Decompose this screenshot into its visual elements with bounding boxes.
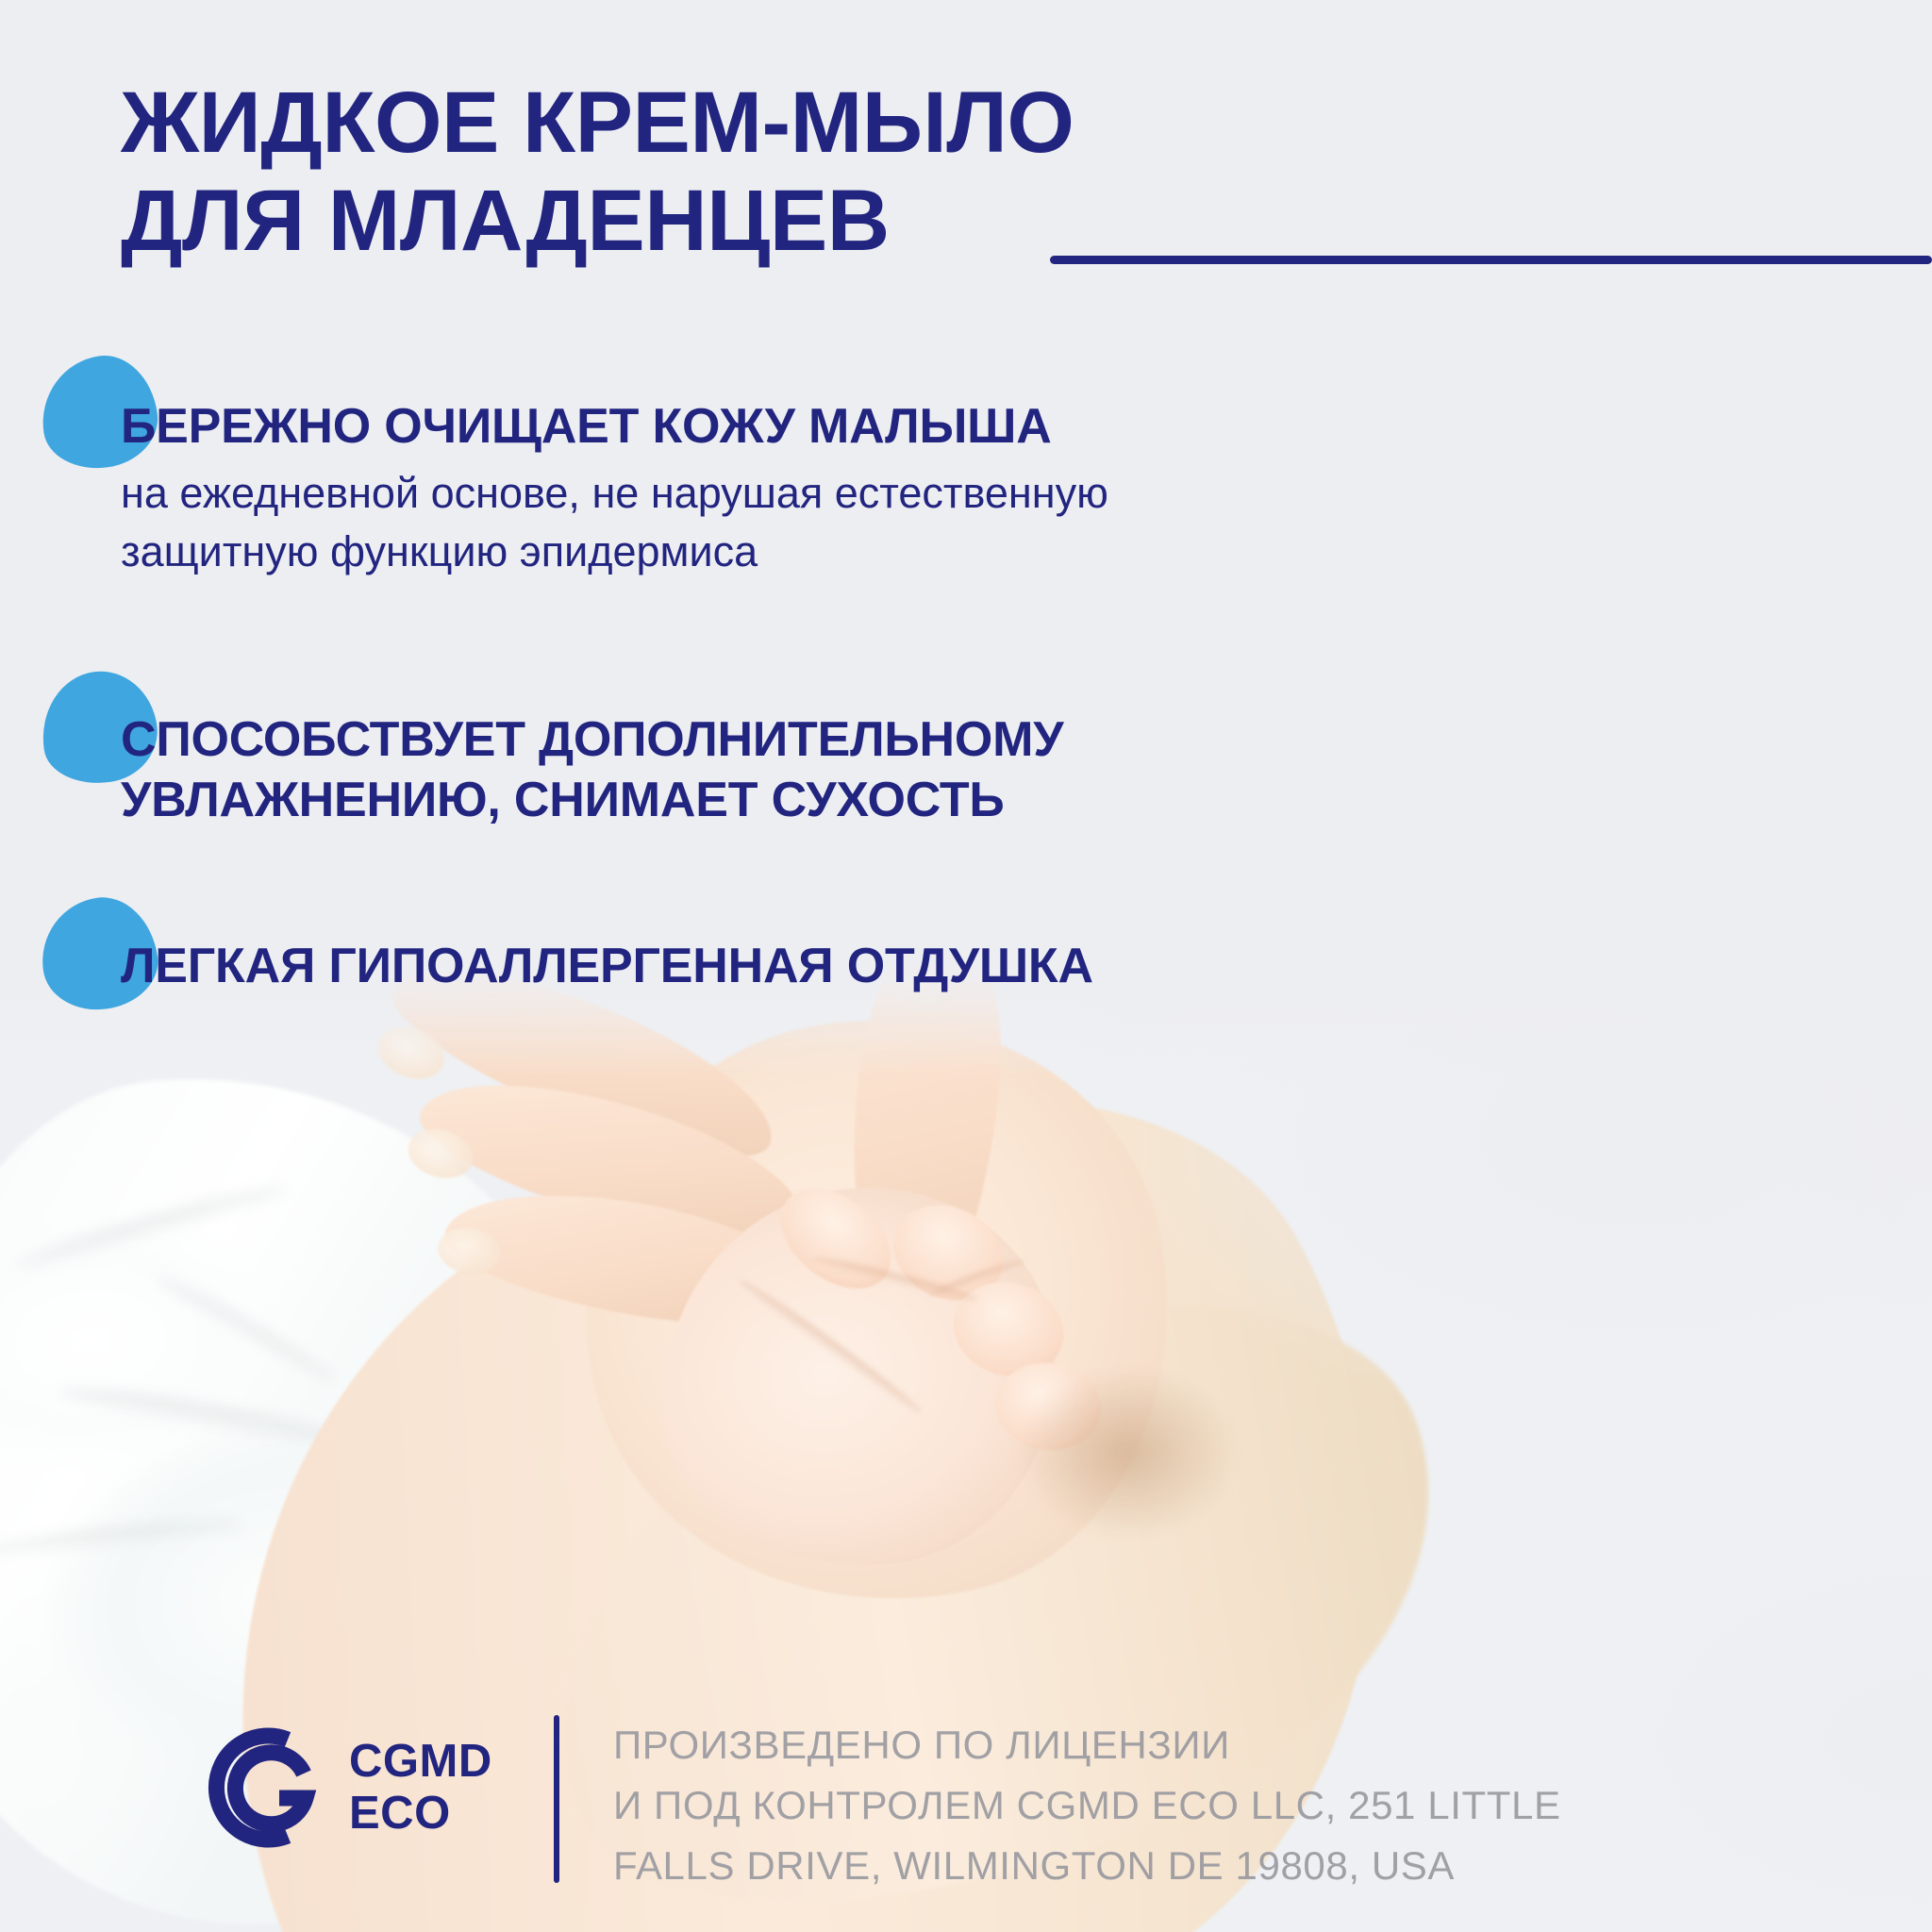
legal-text: ПРОИЗВЕДЕНО ПО ЛИЦЕНЗИИ И ПОД КОНТРОЛЕМ … [613, 1715, 1868, 1896]
benefit-item-2: СПОСОБСТВУЕТ ДОПОЛНИТЕЛЬНОМУ УВЛАЖНЕНИЮ,… [121, 709, 1592, 830]
legal-line-2: И ПОД КОНТРОЛЕМ CGMD ECO LLC, 251 LITTLE [613, 1775, 1868, 1836]
benefit-2-heading-line-1: СПОСОБСТВУЕТ ДОПОЛНИТЕЛЬНОМУ [121, 709, 1592, 770]
brand-logo: CGMD ECO [198, 1724, 492, 1851]
brand-logo-line-1: CGMD [349, 1736, 492, 1788]
benefit-1-sub-line-1: на ежедневной основе, не нарушая естеств… [121, 464, 1592, 523]
benefit-1-heading: БЕРЕЖНО ОЧИЩАЕТ КОЖУ МАЛЫША [121, 396, 1592, 457]
title-line-1: ЖИДКОЕ КРЕМ-МЫЛО [121, 74, 1347, 172]
brand-logo-line-2: ECO [349, 1788, 492, 1840]
cgmd-eco-monogram-icon [198, 1724, 325, 1851]
footer: CGMD ECO ПРОИЗВЕДЕНО ПО ЛИЦЕНЗИИ И ПОД К… [0, 1698, 1932, 1932]
benefit-2-heading-line-2: УВЛАЖНЕНИЮ, СНИМАЕТ СУХОСТЬ [121, 770, 1592, 830]
benefit-3-heading: ЛЕГКАЯ ГИПОАЛЛЕРГЕННАЯ ОТДУШКА [121, 936, 1592, 996]
benefit-item-3: ЛЕГКАЯ ГИПОАЛЛЕРГЕННАЯ ОТДУШКА [121, 936, 1592, 996]
legal-line-3: FALLS DRIVE, WILMINGTON DE 19808, USA [613, 1836, 1868, 1896]
page-title: ЖИДКОЕ КРЕМ-МЫЛО ДЛЯ МЛАДЕНЦЕВ [121, 74, 1347, 270]
brand-logo-text: CGMD ECO [349, 1736, 492, 1840]
promo-card: ЖИДКОЕ КРЕМ-МЫЛО ДЛЯ МЛАДЕНЦЕВ БЕРЕЖНО О… [0, 0, 1932, 1932]
footer-divider [554, 1715, 559, 1883]
legal-line-1: ПРОИЗВЕДЕНО ПО ЛИЦЕНЗИИ [613, 1715, 1868, 1775]
benefit-1-sub-line-2: защитную функцию эпидермиса [121, 523, 1592, 581]
title-rule [1050, 256, 1932, 264]
hand-shadow [1019, 1368, 1236, 1538]
benefit-item-1: БЕРЕЖНО ОЧИЩАЕТ КОЖУ МАЛЫША на ежедневно… [121, 396, 1592, 581]
